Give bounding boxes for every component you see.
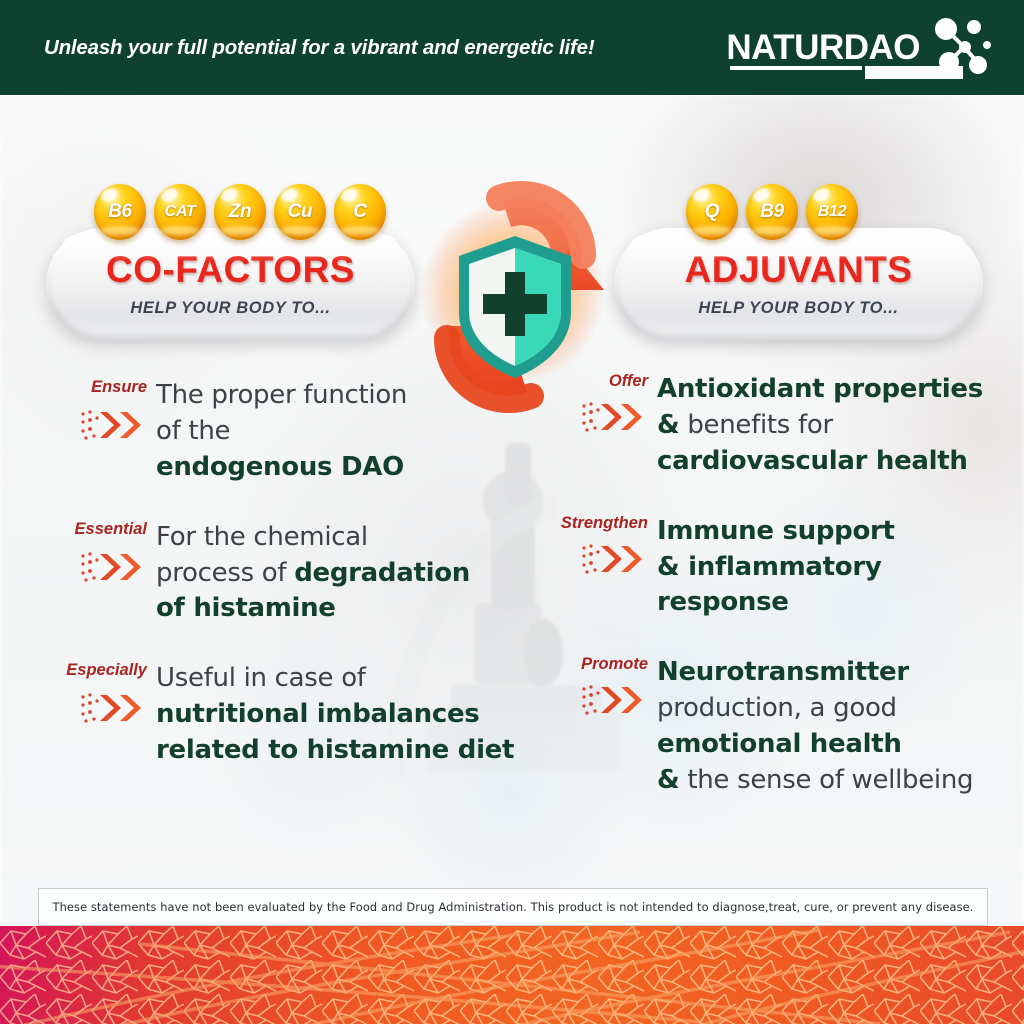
badge-label: CAT xyxy=(165,203,196,221)
header-tagline: Unleash your full potential for a vibran… xyxy=(44,36,595,60)
panel-subtitle: HELP YOUR BODY TO... xyxy=(698,299,898,318)
panel-title: ADJUVANTS xyxy=(685,251,913,288)
logo-underline-left xyxy=(730,66,862,70)
benefit-line-bold: & xyxy=(657,765,679,795)
benefit-item: Offer Antioxidant properties & benefits … xyxy=(545,372,1015,480)
chevron-arrow-icon xyxy=(581,400,653,434)
badge-cat[interactable]: CAT xyxy=(154,184,206,240)
benefit-item: Ensure The proper function of the endoge… xyxy=(52,378,522,486)
header-bar: Unleash your full potential for a vibran… xyxy=(0,0,1024,95)
panel-adjuvants[interactable]: ADJUVANTS HELP YOUR BODY TO... xyxy=(614,228,983,340)
adjuvant-badge-row: Q B9 B12 xyxy=(686,184,858,240)
badge-label: Cu xyxy=(288,201,313,223)
benefit-line-bold: of histamine xyxy=(156,593,336,623)
badge-label: B9 xyxy=(760,201,784,223)
benefit-kicker: Essential xyxy=(75,513,147,538)
panel-title: CO-FACTORS xyxy=(106,251,355,288)
benefit-text: The proper function of the endogenous DA… xyxy=(156,378,407,486)
infographic-canvas: Unleash your full potential for a vibran… xyxy=(0,0,1024,1024)
benefit-line: Useful in case of xyxy=(156,661,514,697)
benefit-line: Immune support xyxy=(657,514,895,550)
badge-b9[interactable]: B9 xyxy=(746,184,798,240)
leaf-vein-texture xyxy=(0,926,1024,1024)
benefit-text: Neurotransmitter production, a good emot… xyxy=(657,655,973,799)
benefit-text: Immune support & inflammatory response xyxy=(657,514,895,622)
benefit-line-bold: cardiovascular health xyxy=(657,446,968,476)
badge-b6[interactable]: B6 xyxy=(94,184,146,240)
fda-disclaimer: These statements have not been evaluated… xyxy=(38,888,988,926)
disclaimer-text: These statements have not been evaluated… xyxy=(53,900,974,914)
badge-label: B6 xyxy=(108,201,132,223)
benefit-item: Promote Neurotransmitter production, a g… xyxy=(545,655,1015,799)
badge-q[interactable]: Q xyxy=(686,184,738,240)
benefit-line: process of xyxy=(156,558,294,588)
chevron-arrow-icon xyxy=(80,550,152,584)
benefit-line-bold: nutritional imbalances xyxy=(156,699,479,729)
badge-label: Zn xyxy=(229,201,252,223)
chevron-arrow-icon xyxy=(581,683,653,717)
benefit-kicker: Strengthen xyxy=(561,507,648,532)
badge-label: C xyxy=(353,201,366,223)
benefit-line: For the chemical xyxy=(156,520,470,556)
benefit-line: response xyxy=(657,585,895,621)
panel-subtitle: HELP YOUR BODY TO... xyxy=(130,299,330,318)
benefit-line: benefits for xyxy=(679,410,832,440)
benefit-item: Strengthen Immune support & inflammatory… xyxy=(545,514,1015,622)
badge-b12[interactable]: B12 xyxy=(806,184,858,240)
benefit-line: the sense of wellbeing xyxy=(679,765,973,795)
benefit-line-bold: endogenous DAO xyxy=(156,452,404,482)
adjuvants-benefit-list: Offer Antioxidant properties & benefits … xyxy=(545,372,1015,807)
benefit-kicker: Offer xyxy=(609,365,648,390)
badge-cu[interactable]: Cu xyxy=(274,184,326,240)
benefit-text: For the chemical process of degradation … xyxy=(156,520,470,628)
badge-zn[interactable]: Zn xyxy=(214,184,266,240)
benefit-line-bold: Neurotransmitter xyxy=(657,657,909,687)
brand-logo[interactable]: NATURDAO xyxy=(726,17,992,79)
benefit-text: Useful in case of nutritional imbalances… xyxy=(156,661,514,769)
badge-c[interactable]: C xyxy=(334,184,386,240)
chevron-arrow-icon xyxy=(80,408,152,442)
benefit-line: The proper function xyxy=(156,378,407,414)
leaf-footer-graphic xyxy=(0,926,1024,1024)
benefit-text: Antioxidant properties & benefits for ca… xyxy=(657,372,983,480)
panel-co-factors[interactable]: CO-FACTORS HELP YOUR BODY TO... xyxy=(46,228,415,340)
benefit-item: Essential For the chemical process of de… xyxy=(52,520,522,628)
benefit-line-bold: related to histamine diet xyxy=(156,735,514,765)
benefit-item: Especially Useful in case of nutritional… xyxy=(52,661,522,769)
benefit-line: & inflammatory xyxy=(657,550,895,586)
chevron-arrow-icon xyxy=(80,691,152,725)
badge-label: Q xyxy=(705,201,719,223)
co-factors-benefit-list: Ensure The proper function of the endoge… xyxy=(52,378,522,777)
logo-underline-right xyxy=(865,66,963,79)
benefit-line-bold: Antioxidant properties xyxy=(657,374,983,404)
badge-label: B12 xyxy=(818,203,846,221)
benefit-kicker: Especially xyxy=(66,654,147,679)
benefit-line: of the xyxy=(156,414,407,450)
chevron-arrow-icon xyxy=(581,542,653,576)
cofactor-badge-row: B6 CAT Zn Cu C xyxy=(94,184,386,240)
benefit-line: production, a good xyxy=(657,691,973,727)
benefit-line-bold: emotional health xyxy=(657,729,902,759)
benefit-kicker: Ensure xyxy=(91,371,147,396)
benefit-line-bold: & xyxy=(657,410,679,440)
benefit-kicker: Promote xyxy=(581,648,648,673)
benefit-line-bold: degradation xyxy=(294,558,470,588)
logo-wordmark: NATURDAO xyxy=(726,30,920,65)
